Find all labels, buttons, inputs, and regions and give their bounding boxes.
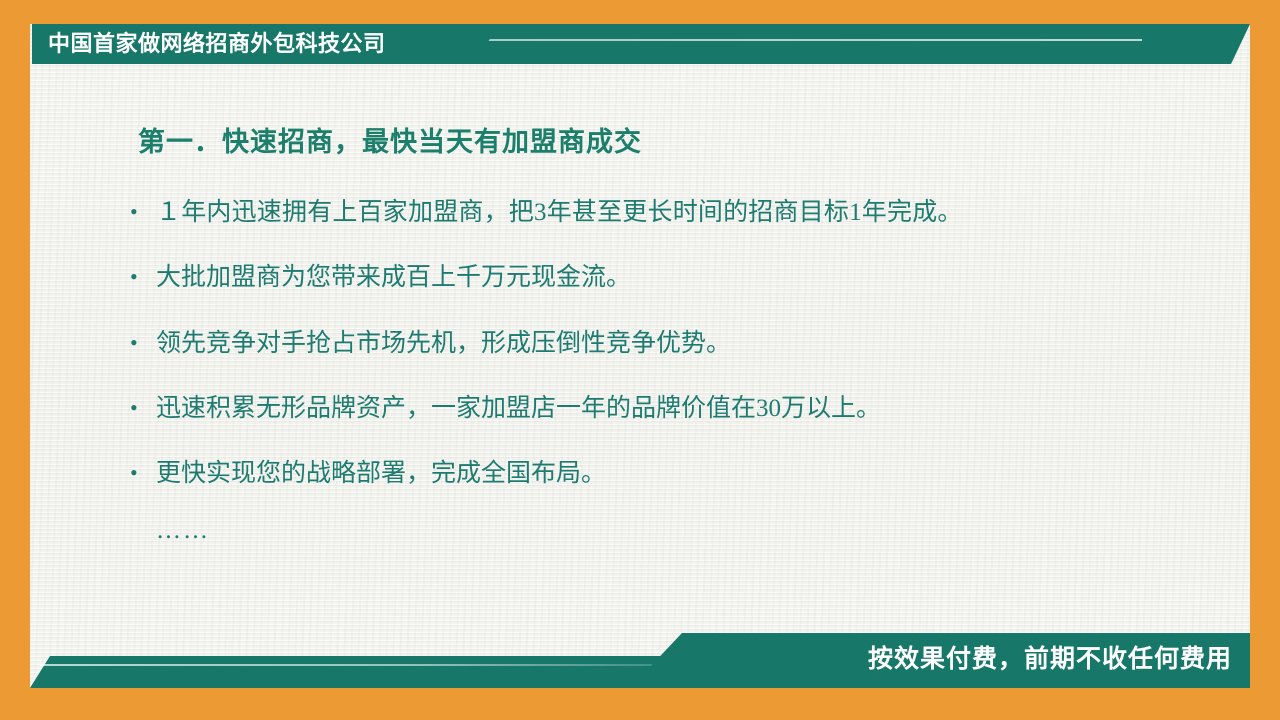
slide-canvas: 中国首家做网络招商外包科技公司 第一．快速招商，最快当天有加盟商成交 • １年内… bbox=[0, 0, 1280, 720]
bullet-list: • １年内迅速拥有上百家加盟商，把3年甚至更长时间的招商目标1年完成。 • 大批… bbox=[130, 197, 1220, 489]
orange-border-left bbox=[0, 0, 30, 720]
footer-slogan: 按效果付费，前期不收任何费用 bbox=[868, 633, 1232, 688]
bullet-marker-icon: • bbox=[130, 328, 156, 358]
bullet-marker-icon: • bbox=[130, 393, 156, 423]
slide-content: 第一．快速招商，最快当天有加盟商成交 • １年内迅速拥有上百家加盟商，把3年甚至… bbox=[130, 120, 1220, 545]
list-item: • 更快实现您的战略部署，完成全国布局。 bbox=[130, 458, 1220, 489]
orange-border-top bbox=[0, 0, 1280, 24]
list-item: • 领先竞争对手抢占市场先机，形成压倒性竞争优势。 bbox=[130, 328, 1220, 359]
header-title: 中国首家做网络招商外包科技公司 bbox=[48, 24, 386, 64]
list-item: • 大批加盟商为您带来成百上千万元现金流。 bbox=[130, 262, 1220, 293]
ellipsis-text: …… bbox=[156, 517, 1220, 545]
orange-border-right bbox=[1250, 0, 1280, 720]
list-item-label: 大批加盟商为您带来成百上千万元现金流。 bbox=[156, 262, 1220, 293]
footer-band: 按效果付费，前期不收任何费用 bbox=[30, 630, 1250, 688]
header-band: 中国首家做网络招商外包科技公司 bbox=[32, 24, 1250, 64]
list-item-label: 领先竞争对手抢占市场先机，形成压倒性竞争优势。 bbox=[156, 328, 1220, 359]
list-item-label: 更快实现您的战略部署，完成全国布局。 bbox=[156, 458, 1220, 489]
list-item: • 迅速积累无形品牌资产，一家加盟店一年的品牌价值在30万以上。 bbox=[130, 393, 1220, 424]
orange-border-bottom bbox=[0, 688, 1280, 720]
bullet-marker-icon: • bbox=[130, 197, 156, 227]
list-item-label: １年内迅速拥有上百家加盟商，把3年甚至更长时间的招商目标1年完成。 bbox=[156, 197, 1220, 228]
list-item: • １年内迅速拥有上百家加盟商，把3年甚至更长时间的招商目标1年完成。 bbox=[130, 197, 1220, 228]
page-title: 第一．快速招商，最快当天有加盟商成交 bbox=[138, 120, 1220, 159]
bullet-marker-icon: • bbox=[130, 262, 156, 292]
bullet-marker-icon: • bbox=[130, 458, 156, 488]
list-item-label: 迅速积累无形品牌资产，一家加盟店一年的品牌价值在30万以上。 bbox=[156, 393, 1220, 424]
